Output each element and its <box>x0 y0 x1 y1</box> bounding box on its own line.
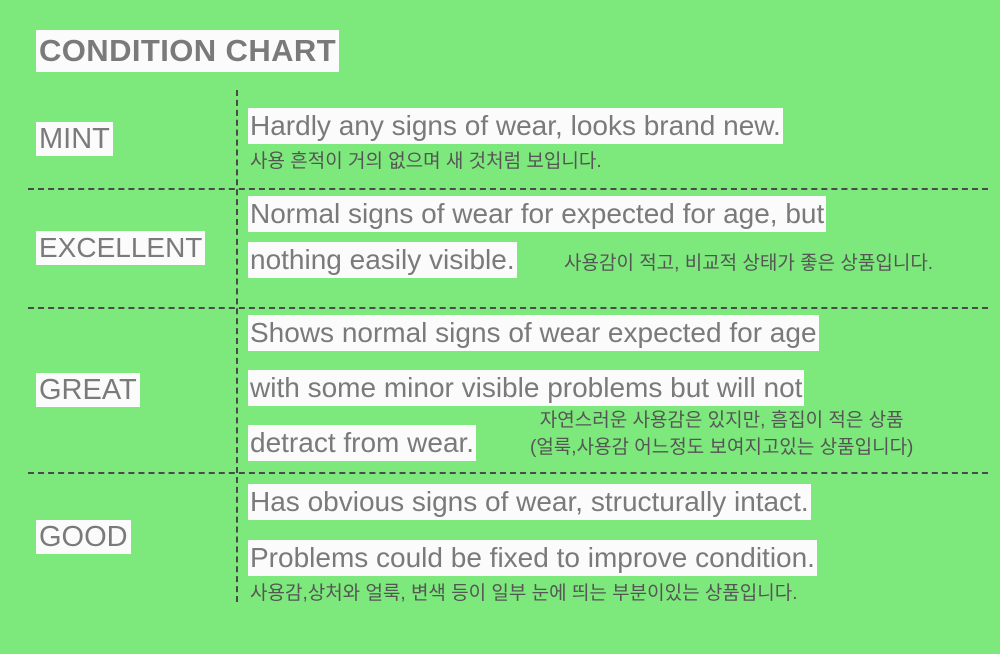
grade-label-mint: MINT <box>0 90 236 188</box>
grade-label-text: GREAT <box>36 373 140 407</box>
grade-label-good: GOOD <box>0 472 236 602</box>
table-row: GOOD Has obvious signs of wear, structur… <box>0 472 1000 602</box>
condition-chart: CONDITION CHART MINT Hardly any signs of… <box>0 0 1000 654</box>
description-text-en: Problems could be fixed to improve condi… <box>248 540 817 576</box>
description-line: Has obvious signs of wear, structurally … <box>248 484 811 520</box>
table-row: MINT Hardly any signs of wear, looks bra… <box>0 90 1000 188</box>
description-text-en: Shows normal signs of wear expected for … <box>248 315 819 351</box>
chart-title-text: CONDITION CHART <box>36 30 339 72</box>
description-cell-mint: Hardly any signs of wear, looks brand ne… <box>248 90 1000 188</box>
description-block-kr: 자연스러운 사용감은 있지만, 흠집이 적은 상품 (얼룩,사용감 어느정도 보… <box>530 407 913 461</box>
description-line: nothing easily visible. <box>248 242 517 278</box>
grade-label-great: GREAT <box>0 307 236 472</box>
description-text-en: Has obvious signs of wear, structurally … <box>248 484 811 520</box>
chart-title: CONDITION CHART <box>36 30 339 74</box>
grade-label-text: GOOD <box>36 520 131 554</box>
description-line: Shows normal signs of wear expected for … <box>248 315 819 351</box>
description-line: Hardly any signs of wear, looks brand ne… <box>248 108 783 144</box>
description-line: detract from wear. <box>248 425 476 461</box>
description-text-en: Normal signs of wear for expected for ag… <box>248 196 826 232</box>
description-text-en: Hardly any signs of wear, looks brand ne… <box>248 108 783 144</box>
description-line: with some minor visible problems but wil… <box>248 370 804 406</box>
grade-label-excellent: EXCELLENT <box>0 188 236 307</box>
description-text-en: nothing easily visible. <box>248 242 517 278</box>
description-text-kr: (얼룩,사용감 어느정도 보여지고있는 상품입니다) <box>530 434 913 461</box>
description-text-kr: 사용감,상처와 얼룩, 변색 등이 일부 눈에 띄는 부분이있는 상품입니다. <box>250 582 798 606</box>
grade-label-text: MINT <box>36 122 113 156</box>
description-text-kr: 사용 흔적이 거의 없으며 새 것처럼 보입니다. <box>250 150 602 174</box>
description-line: Normal signs of wear for expected for ag… <box>248 196 826 232</box>
description-text-en: detract from wear. <box>248 425 476 461</box>
description-text-kr: 자연스러운 사용감은 있지만, 흠집이 적은 상품 <box>530 407 913 434</box>
grade-label-text: EXCELLENT <box>36 231 205 265</box>
table-row: EXCELLENT Normal signs of wear for expec… <box>0 188 1000 307</box>
description-line: Problems could be fixed to improve condi… <box>248 540 817 576</box>
description-cell-excellent: Normal signs of wear for expected for ag… <box>248 188 1000 307</box>
description-cell-good: Has obvious signs of wear, structurally … <box>248 472 1000 602</box>
table-row: GREAT Shows normal signs of wear expecte… <box>0 307 1000 472</box>
description-text-kr: 사용감이 적고, 비교적 상태가 좋은 상품입니다. <box>564 252 933 276</box>
description-text-en: with some minor visible problems but wil… <box>248 370 804 406</box>
description-cell-great: Shows normal signs of wear expected for … <box>248 307 1000 472</box>
